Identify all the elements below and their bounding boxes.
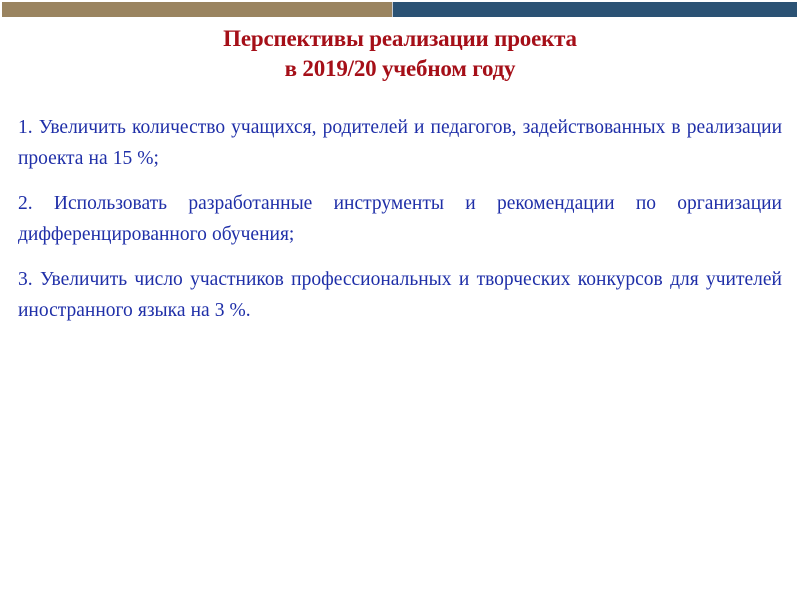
top-bar-segment-blue (392, 2, 797, 17)
slide-title: Перспективы реализации проекта в 2019/20… (0, 24, 800, 84)
top-bar-segment-tan (2, 2, 392, 17)
presentation-slide: Перспективы реализации проекта в 2019/20… (0, 0, 800, 600)
body-paragraph-2: 2. Использовать разработанные инструмент… (18, 188, 782, 250)
body-paragraph-1: 1. Увеличить количество учащихся, родите… (18, 112, 782, 174)
body-paragraph-3: 3. Увеличить число участников профессион… (18, 264, 782, 326)
slide-body: 1. Увеличить количество учащихся, родите… (18, 112, 782, 326)
decorative-top-bar (2, 2, 797, 17)
slide-title-line-1: Перспективы реализации проекта (0, 24, 800, 54)
slide-title-line-2: в 2019/20 учебном году (0, 54, 800, 84)
